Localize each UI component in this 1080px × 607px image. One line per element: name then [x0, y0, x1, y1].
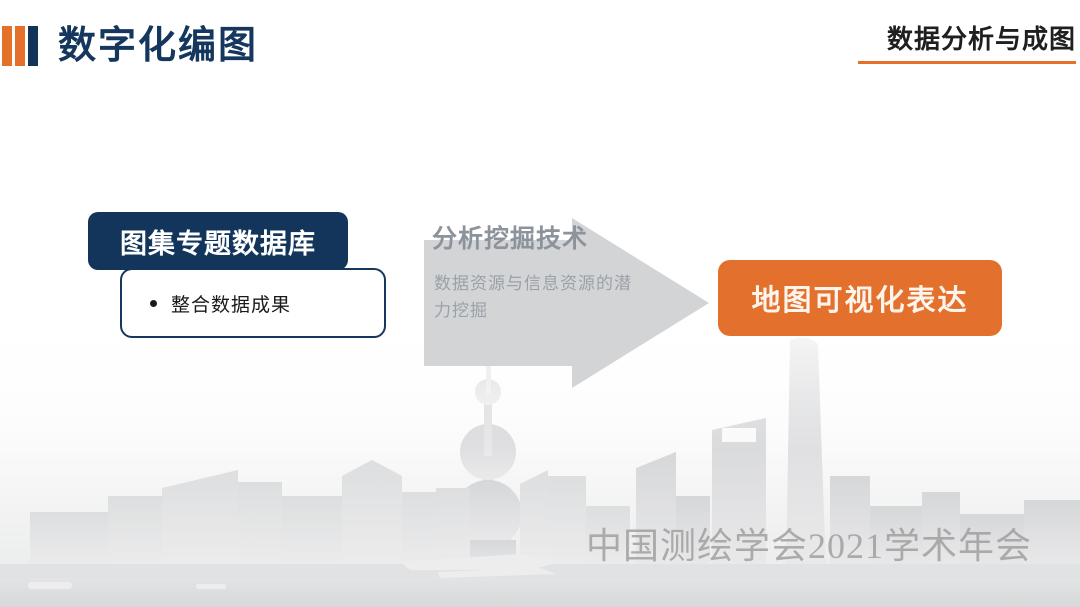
- slide-canvas: 数字化编图 数据分析与成图 分析挖掘技术 数据资源与信息资源的潜力挖掘 整合数据…: [0, 0, 1080, 607]
- section-label-group: 数据分析与成图: [858, 24, 1076, 64]
- stage-output-title: 地图可视化表达: [751, 277, 968, 319]
- section-label-underline: [858, 61, 1076, 64]
- stage-database-header: 图集专题数据库: [88, 212, 348, 270]
- accent-bar-orange-2: [15, 26, 25, 66]
- stage-database-card: 整合数据成果: [120, 268, 386, 338]
- page-title: 数字化编图: [58, 22, 258, 70]
- conference-watermark: 中国测绘学会2021学术年会: [586, 517, 1032, 569]
- stage-database-bullet-label: 整合数据成果: [171, 290, 291, 317]
- section-label: 数据分析与成图: [858, 24, 1076, 56]
- header-accent-bars: [2, 26, 38, 66]
- accent-bar-orange-1: [2, 26, 12, 66]
- stage-output-box: 地图可视化表达: [718, 260, 1002, 336]
- list-item: 整合数据成果: [122, 290, 291, 317]
- accent-bar-navy: [28, 26, 38, 66]
- stage-database-title: 图集专题数据库: [120, 222, 316, 261]
- bullet-dot-icon: [150, 300, 157, 307]
- stage-analysis-body: 数据资源与信息资源的潜力挖掘: [434, 270, 644, 324]
- stage-analysis-title: 分析挖掘技术: [432, 219, 588, 255]
